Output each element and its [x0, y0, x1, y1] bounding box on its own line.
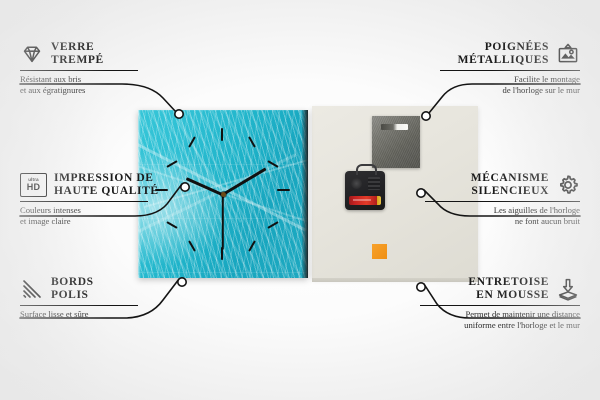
callout-rule	[425, 201, 580, 202]
ultra-hd-icon-large-text: HD	[27, 183, 40, 192]
feature-title-line2: HAUTE QUALITÉ	[54, 185, 159, 197]
metal-handle-plate	[372, 116, 420, 168]
movement-vents	[368, 177, 380, 190]
feature-desc-line1: Surface lisse et sûre	[20, 309, 89, 319]
feature-desc-line2: uniforme entre l'horloge et le mur	[464, 320, 580, 330]
feature-desc-line2: de l'horloge sur le mur	[503, 85, 580, 95]
clock-hands-hub	[221, 192, 226, 197]
feature-title-line2: POLIS	[51, 289, 89, 301]
feature-desc-line2: et image claire	[20, 216, 71, 226]
callout-rule	[440, 70, 580, 71]
callout-rule	[20, 70, 138, 71]
feature-title-line1: IMPRESSION DE	[54, 172, 154, 184]
face-right-edge	[302, 110, 308, 278]
feature-desc-line2: et aux égratignures	[20, 85, 85, 95]
feature-desc-line1: Résistant aux bris	[20, 74, 81, 84]
callout-verre-trempe: VERRE TREMPÉ Résistant aux bris et aux é…	[20, 41, 160, 95]
callout-poignees-metalliques: POIGNÉES MÉTALLIQUES Facilite le montage…	[440, 41, 580, 95]
feature-title-line2: TREMPÉ	[51, 54, 104, 66]
clock-movement	[345, 171, 385, 210]
callout-mecanisme-silencieux: MÉCANISME SILENCIEUX Les aiguilles de l'…	[425, 172, 580, 226]
feature-desc-line1: Permet de maintenir une distance	[465, 309, 580, 319]
feature-desc-line1: Couleurs intenses	[20, 205, 81, 215]
feature-desc-line1: Les aiguilles de l'horloge	[494, 205, 580, 215]
callout-rule	[20, 305, 138, 306]
feature-title-line2: MÉTALLIQUES	[458, 54, 549, 66]
feature-title-line1: VERRE	[51, 41, 94, 53]
ultra-hd-icon: ultra HD	[20, 173, 47, 197]
callout-rule	[20, 201, 148, 202]
battery	[349, 196, 381, 205]
infographic-canvas: VERRE TREMPÉ Résistant aux bris et aux é…	[0, 0, 600, 400]
handle-keyhole-slot	[381, 124, 408, 130]
movement-shaft	[351, 178, 362, 189]
diamond-icon	[20, 42, 44, 66]
movement-hanger-loop	[356, 164, 377, 175]
second-hand	[222, 194, 224, 250]
feature-desc-line1: Facilite le montage	[514, 74, 580, 84]
feature-title-line1: BORDS	[51, 276, 94, 288]
callout-entretoise-en-mousse: ENTRETOISE EN MOUSSE Permet de maintenir…	[420, 276, 580, 330]
press-down-layers-icon	[556, 277, 580, 301]
picture-frame-hanger-icon	[556, 42, 580, 66]
feature-title-line2: SILENCIEUX	[471, 185, 549, 197]
hour-tick	[277, 189, 290, 191]
hour-tick	[221, 128, 223, 141]
gear-icon	[556, 173, 580, 197]
foam-spacer-shadow	[381, 247, 394, 261]
polished-edge-icon	[20, 277, 44, 301]
foam-spacer	[372, 244, 387, 259]
feature-title-line1: ENTRETOISE	[468, 276, 549, 288]
feature-desc-line2: ne font aucun bruit	[515, 216, 580, 226]
feature-title-line1: MÉCANISME	[471, 172, 549, 184]
callout-bords-polis: BORDS POLIS Surface lisse et sûre	[20, 276, 160, 320]
callout-rule	[420, 305, 580, 306]
feature-title-line1: POIGNÉES	[485, 41, 549, 53]
feature-title-line2: EN MOUSSE	[476, 289, 549, 301]
callout-impression-haute-qualite: ultra HD IMPRESSION DE HAUTE QUALITÉ Cou…	[20, 172, 170, 226]
